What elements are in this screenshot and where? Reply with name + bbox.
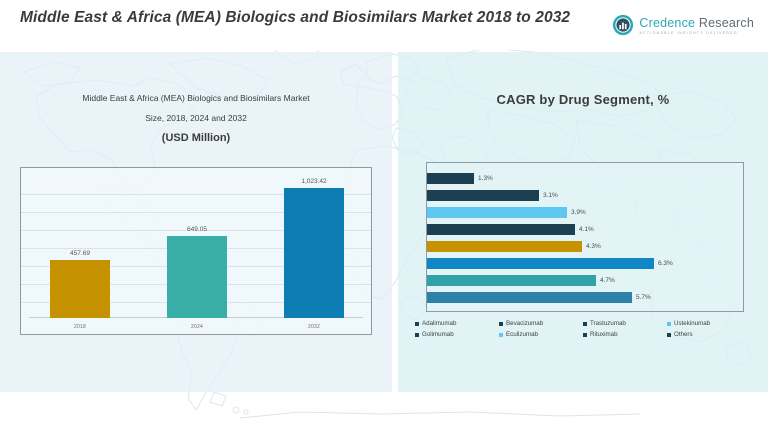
- legend-item-label: Adalimumab: [422, 320, 456, 327]
- column-chart-plot-area: 457.692018649.0520241,023.422032: [21, 168, 371, 334]
- left-chart-title-line1: Middle East & Africa (MEA) Biologics and…: [0, 88, 392, 108]
- column-bar-group: 1,023.42: [284, 172, 344, 318]
- horizontal-bar-chart: 1.3%3.1%3.9%4.1%4.3%6.3%4.7%5.7%: [426, 162, 744, 312]
- bar-chart-circle-icon: [612, 14, 634, 36]
- column-category-label: 2024: [167, 324, 227, 330]
- header-bar: Middle East & Africa (MEA) Biologics and…: [0, 0, 768, 50]
- horizontal-bar: [427, 241, 582, 252]
- horizontal-bar-row: 4.1%: [427, 221, 743, 238]
- right-chart-title: CAGR by Drug Segment, %: [398, 92, 768, 107]
- horizontal-bar-row: 5.7%: [427, 289, 743, 306]
- legend-swatch-icon: [499, 322, 503, 326]
- horizontal-bar-row: 3.1%: [427, 187, 743, 204]
- legend-item-label: Others: [674, 331, 693, 338]
- horizontal-bar-rows: 1.3%3.1%3.9%4.1%4.3%6.3%4.7%5.7%: [427, 170, 743, 306]
- legend-swatch-icon: [583, 322, 587, 326]
- horizontal-bar-row: 3.9%: [427, 204, 743, 221]
- horizontal-bar-value-label: 5.7%: [636, 294, 651, 301]
- legend-swatch-icon: [499, 333, 503, 337]
- legend-item[interactable]: Others: [667, 331, 751, 338]
- column-bar: [284, 188, 344, 318]
- horizontal-bar-value-label: 3.9%: [571, 209, 586, 216]
- logo-name: Credence Research: [639, 16, 754, 30]
- legend-item-label: Eculizumab: [506, 331, 538, 338]
- horizontal-bar: [427, 258, 654, 269]
- legend-item-label: Bevacizumab: [506, 320, 543, 327]
- horizontal-bar: [427, 207, 567, 218]
- legend-swatch-icon: [667, 333, 671, 337]
- column-bar-value-label: 649.05: [187, 226, 207, 233]
- left-chart-title: Middle East & Africa (MEA) Biologics and…: [0, 88, 392, 148]
- horizontal-bar-value-label: 6.3%: [658, 260, 673, 267]
- legend-item[interactable]: Rituximab: [583, 331, 667, 338]
- column-bar-value-label: 1,023.42: [301, 178, 326, 185]
- legend-item-label: Golimumab: [422, 331, 454, 338]
- horizontal-bar: [427, 292, 632, 303]
- chart-legend: AdalimumabBevacizumabTrastuzumabUstekinu…: [412, 320, 754, 338]
- horizontal-bar-value-label: 4.1%: [579, 226, 594, 233]
- legend-swatch-icon: [415, 333, 419, 337]
- column-bar-group: 649.05: [167, 172, 227, 318]
- legend-item[interactable]: Adalimumab: [415, 320, 499, 327]
- column-bar: [167, 236, 227, 318]
- legend-item[interactable]: Eculizumab: [499, 331, 583, 338]
- horizontal-bar-value-label: 1.3%: [478, 175, 493, 182]
- horizontal-bar: [427, 275, 596, 286]
- column-chart: 457.692018649.0520241,023.422032: [20, 167, 372, 335]
- horizontal-bar: [427, 190, 539, 201]
- horizontal-bar-value-label: 4.7%: [600, 277, 615, 284]
- legend-item-label: Rituximab: [590, 331, 618, 338]
- logo-name-research: Research: [699, 16, 754, 30]
- column-bar-group: 457.69: [50, 172, 110, 318]
- right-chart-panel: CAGR by Drug Segment, % 1.3%3.1%3.9%4.1%…: [398, 52, 768, 392]
- legend-swatch-icon: [583, 333, 587, 337]
- logo-name-credence: Credence: [639, 16, 695, 30]
- left-chart-panel: Middle East & Africa (MEA) Biologics and…: [0, 52, 392, 392]
- column-category-label: 2032: [284, 324, 344, 330]
- horizontal-bar: [427, 173, 474, 184]
- legend-swatch-icon: [667, 322, 671, 326]
- horizontal-bar-value-label: 4.3%: [586, 243, 601, 250]
- credence-research-logo: Credence Research Actionable Insights De…: [612, 11, 754, 39]
- legend-item[interactable]: Golimumab: [415, 331, 499, 338]
- legend-swatch-icon: [415, 322, 419, 326]
- column-bar-value-label: 457.69: [70, 250, 90, 257]
- legend-item-label: Ustekinumab: [674, 320, 710, 327]
- legend-item[interactable]: Bevacizumab: [499, 320, 583, 327]
- legend-item[interactable]: Ustekinumab: [667, 320, 751, 327]
- horizontal-bar-row: 1.3%: [427, 170, 743, 187]
- logo-tagline: Actionable Insights Delivered: [639, 31, 754, 35]
- column-bar: [50, 260, 110, 318]
- legend-item[interactable]: Trastuzumab: [583, 320, 667, 327]
- horizontal-bar-row: 4.7%: [427, 272, 743, 289]
- horizontal-bar-row: 6.3%: [427, 255, 743, 272]
- legend-item-label: Trastuzumab: [590, 320, 626, 327]
- horizontal-bar-value-label: 3.1%: [543, 192, 558, 199]
- horizontal-bar-row: 4.3%: [427, 238, 743, 255]
- logo-text-block: Credence Research Actionable Insights De…: [639, 16, 754, 35]
- page-title: Middle East & Africa (MEA) Biologics and…: [20, 8, 580, 27]
- horizontal-bar: [427, 224, 575, 235]
- left-chart-title-line2: Size, 2018, 2024 and 2032: [0, 108, 392, 128]
- column-category-label: 2018: [50, 324, 110, 330]
- left-chart-title-line3: (USD Million): [0, 128, 392, 148]
